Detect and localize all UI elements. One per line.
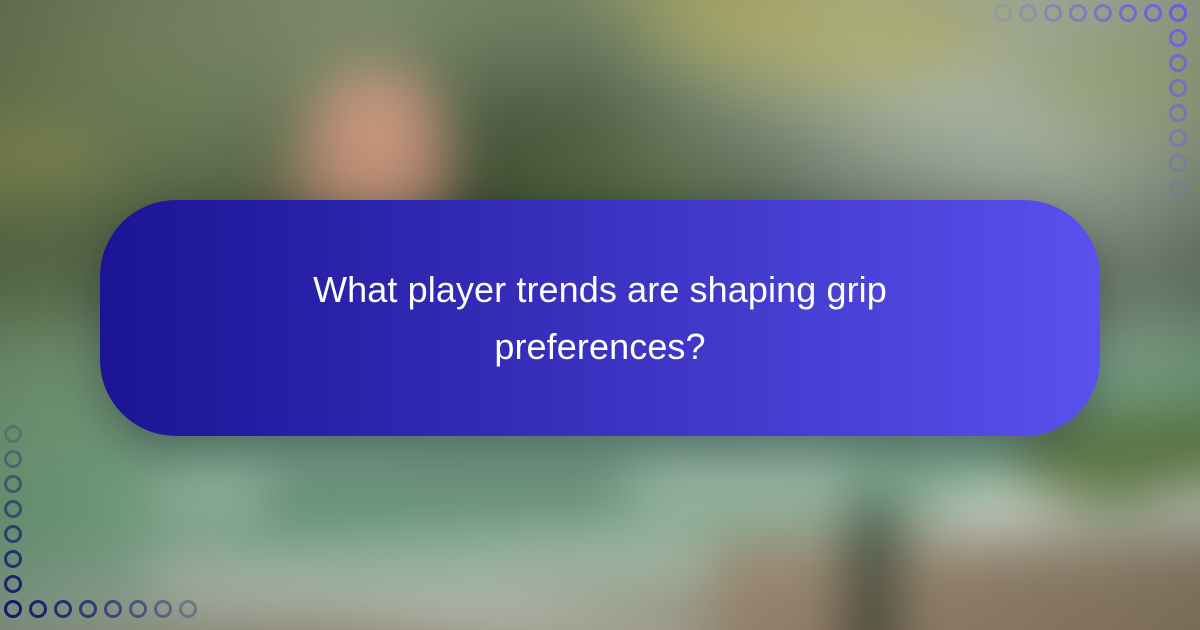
dot-left-column-3: [4, 550, 22, 568]
dot-left-column-7: [4, 450, 22, 468]
dot-right-column-8: [1169, 179, 1187, 197]
dot-left-column-8: [4, 425, 22, 443]
dot-bottom-row-1: [4, 600, 22, 618]
dot-right-column-2: [1169, 29, 1187, 47]
dot-top-row-2: [1019, 4, 1037, 22]
dot-right-column-6: [1169, 129, 1187, 147]
dot-right-column-7: [1169, 154, 1187, 172]
dot-top-row-1: [994, 4, 1012, 22]
dot-right-column-5: [1169, 104, 1187, 122]
dot-bottom-row-2: [29, 600, 47, 618]
dot-top-row-7: [1144, 4, 1162, 22]
dot-left-column-6: [4, 475, 22, 493]
dot-left-column-4: [4, 525, 22, 543]
dot-left-column-5: [4, 500, 22, 518]
question-text: What player trends are shaping grip pref…: [280, 261, 920, 375]
question-card-graphic: What player trends are shaping grip pref…: [0, 0, 1200, 630]
dot-top-row-3: [1044, 4, 1062, 22]
question-card: What player trends are shaping grip pref…: [100, 200, 1100, 436]
dot-bottom-row-3: [54, 600, 72, 618]
dot-top-row-8: [1169, 4, 1187, 22]
dot-top-row-4: [1069, 4, 1087, 22]
dot-right-column-4: [1169, 79, 1187, 97]
dot-bottom-row-6: [129, 600, 147, 618]
dot-left-column-2: [4, 575, 22, 593]
dot-right-column-3: [1169, 54, 1187, 72]
dot-bottom-row-4: [79, 600, 97, 618]
dot-bottom-row-8: [179, 600, 197, 618]
dot-bottom-row-7: [154, 600, 172, 618]
dot-top-row-5: [1094, 4, 1112, 22]
dot-bottom-row-5: [104, 600, 122, 618]
dot-top-row-6: [1119, 4, 1137, 22]
